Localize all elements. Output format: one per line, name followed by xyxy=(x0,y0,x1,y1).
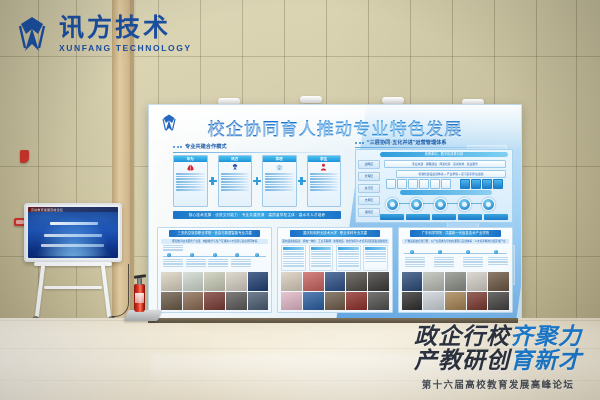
wall-logo-en: XUNFANG TECHNOLOGY xyxy=(59,43,192,53)
tv-screen: 高校教育发展高峰论坛 xyxy=(28,207,118,258)
left-section-heading: 专业共建合作模式 xyxy=(173,143,227,150)
diagram-node xyxy=(410,198,423,211)
case-panel: 广东科学学院 · 共建新一代信息技术产业学院 产教深度融合新引擎 · 以产业需求… xyxy=(398,227,513,313)
xunfang-logo-mark xyxy=(12,14,52,54)
case-panel-subtitle: 聚焦数字技术服务产业链 · 构建教学与生产互通的人才培养与就业闭环体系 xyxy=(161,239,268,244)
diagram-node xyxy=(458,198,471,211)
partnership-summary-bar: 核心技术支撑 · 优质交付能力 · 专业共建资源 · 高质量学校主体 · 高水平… xyxy=(173,211,341,219)
tv-header-text: 高校教育发展高峰论坛 xyxy=(31,208,63,212)
event-slogan: 政企行校齐聚力 产教研创育新才 第十六届高校教育发展高峰论坛 xyxy=(396,325,600,391)
case-study-panels: 三亚航空旅游职业学院 · 信息与数据智能专业共建 聚焦数字技术服务产业链 · 构… xyxy=(157,227,513,313)
case-timeline xyxy=(402,245,509,271)
diagram-node xyxy=(386,198,399,211)
slogan-line2-blue: 育新才 xyxy=(510,348,582,374)
backdrop-title: 校企协同育人推动专业特色发展 xyxy=(149,115,521,140)
slogan-line2-dark: 产教研创 xyxy=(414,348,510,374)
partner-card: 讯方 xyxy=(218,155,253,207)
plus-icon xyxy=(208,155,218,207)
slogan-line1-dark: 政企行校 xyxy=(414,324,510,350)
school-icon xyxy=(263,162,296,172)
management-system-diagram: 政策牵引、数字化改革引领 战略层 管理层 执行层 支撑层 保障层 专业共建 · … xyxy=(355,149,513,223)
power-cable xyxy=(112,264,129,317)
backdrop-base-shadow xyxy=(148,318,518,323)
diagram-row-label: 管理层 xyxy=(358,172,380,181)
tv-stage-glow xyxy=(33,241,112,256)
case-photo-grid xyxy=(281,272,388,310)
presentation-display[interactable]: 高校教育发展高峰论坛 xyxy=(24,203,122,262)
slogan-line-1: 政企行校齐聚力 xyxy=(396,325,600,349)
case-timeline xyxy=(161,245,268,271)
student-icon xyxy=(308,162,341,172)
bullet-dots-icon xyxy=(173,146,182,148)
exhibition-backdrop-banner: 校企协同育人推动专业特色发展 专业共建合作模式 华为 讯方 xyxy=(148,104,522,322)
tv-stand xyxy=(24,262,122,324)
partner-card: 学校 xyxy=(262,155,297,207)
huawei-logo-icon xyxy=(174,162,207,172)
wall-logo-cn: 讯方技术 xyxy=(59,15,192,40)
slogan-line-2: 产教研创育新才 xyxy=(396,349,600,373)
partner-card-rows xyxy=(308,172,341,206)
partner-card-rows xyxy=(263,172,296,206)
case-photo-grid xyxy=(161,272,268,310)
ceiling-spotlight xyxy=(382,97,404,104)
case-panel-subtitle: 面向装备制造业 · 机电一体化 · 工业互联网 · 智能制造 · 校企协同人才培… xyxy=(281,239,388,244)
partner-card-rows xyxy=(174,172,207,206)
partnership-model-cards: 华为 讯方 学校 xyxy=(173,155,341,207)
bullet-dots-icon xyxy=(355,142,364,144)
partner-card-rows xyxy=(219,172,252,206)
tv-topbar: 高校教育发展高峰论坛 xyxy=(28,207,118,212)
fire-alarm-device xyxy=(20,150,29,163)
fire-extinguisher-label xyxy=(135,293,144,303)
tv-bezel: 高校教育发展高峰论坛 xyxy=(24,203,122,262)
diagram-bar: 标准化建设运营体系 + 产业学院 + 实习实训平台运营 xyxy=(396,170,506,178)
right-section-heading: “三层协同·五化并进”运营管理体系 xyxy=(355,139,447,146)
partner-card: 学生 xyxy=(307,155,342,207)
case-panel-title: 三亚航空旅游职业学院 · 信息与数据智能专业共建 xyxy=(169,230,260,237)
case-photo-grid xyxy=(402,272,509,310)
diagram-node xyxy=(434,198,447,211)
diagram-node xyxy=(482,198,495,211)
fire-extinguisher-neck xyxy=(137,278,142,285)
case-panel: 重庆机电职业技术大学 · 职业本科专业共建 面向装备制造业 · 机电一体化 · … xyxy=(277,227,392,313)
partner-card: 华为 xyxy=(173,155,208,207)
diagram-top-bar: 政策牵引、数字化改革引领 xyxy=(380,152,508,157)
exhibition-hall-photo: 讯方技术 XUNFANG TECHNOLOGY 高校教育发展高峰论坛 xyxy=(0,0,600,400)
diagram-row-label: 保障层 xyxy=(358,208,380,217)
diagram-bottom-tags xyxy=(380,214,508,220)
diagram-row-label: 战略层 xyxy=(358,160,380,169)
xunfang-logo-icon xyxy=(219,162,252,172)
case-panel-title: 重庆机电职业技术大学 · 职业本科专业共建 xyxy=(290,230,381,237)
diagram-row-label: 执行层 xyxy=(358,184,380,193)
slogan-line1-blue: 齐聚力 xyxy=(510,324,582,350)
plus-icon xyxy=(252,155,262,207)
case-columns xyxy=(281,245,388,271)
ceiling-spotlight xyxy=(300,96,322,103)
plus-icon xyxy=(297,155,307,207)
case-panel-title: 广东科学学院 · 共建新一代信息技术产业学院 xyxy=(410,230,501,237)
case-panel-subtitle: 产教深度融合新引擎 · 以产业需求为导向的课程与实训体系 · 人才培养精准对接区… xyxy=(402,239,509,244)
diagram-row-label: 支撑层 xyxy=(358,196,380,205)
diagram-bar: 专业共建 · 课程建设 · 师资培养 · 实训基地 · 就业服务 xyxy=(384,160,506,168)
company-wall-logo: 讯方技术 XUNFANG TECHNOLOGY xyxy=(12,14,192,54)
case-panel: 三亚航空旅游职业学院 · 信息与数据智能专业共建 聚焦数字技术服务产业链 · 构… xyxy=(157,227,272,313)
slogan-subtitle: 第十六届高校教育发展高峰论坛 xyxy=(396,377,600,391)
